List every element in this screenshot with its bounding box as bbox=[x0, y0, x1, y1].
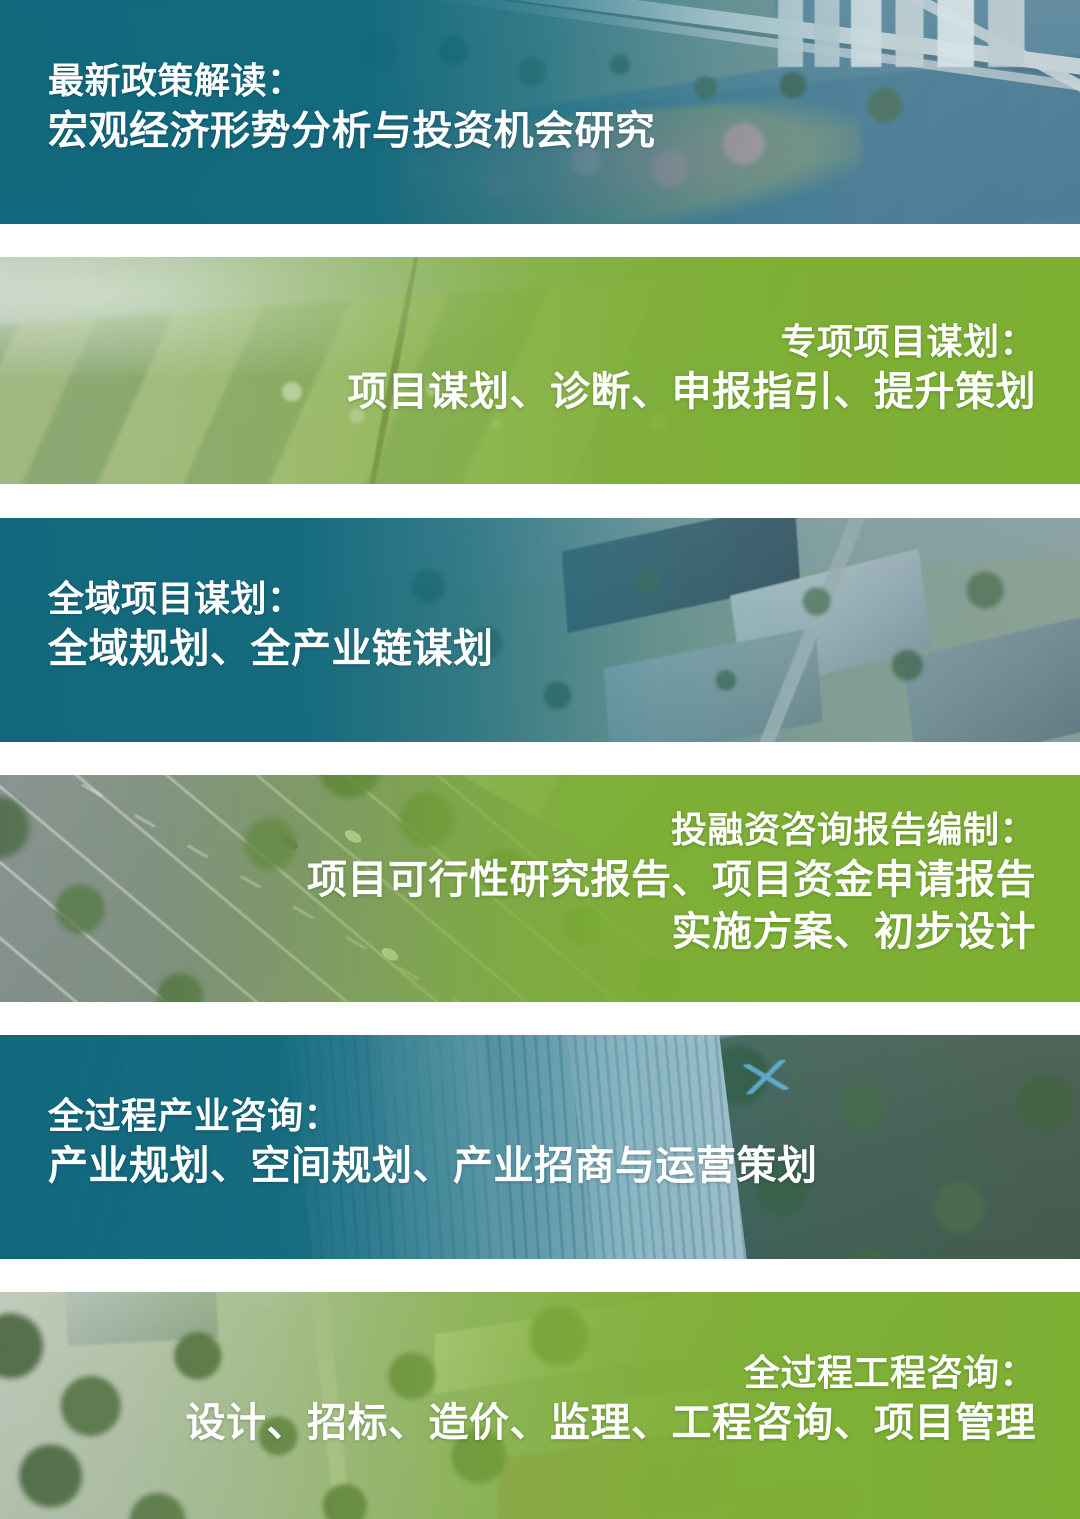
band-6-heading: 全过程工程咨询： bbox=[186, 1350, 1037, 1397]
band-policy-interpretation: 最新政策解读： 宏观经济形势分析与投资机会研究 bbox=[0, 0, 1080, 224]
band-1-line2: 宏观经济形势分析与投资机会研究 bbox=[48, 105, 656, 157]
band-1-heading: 最新政策解读： bbox=[48, 58, 656, 105]
band-2-copy: 专项项目谋划： 项目谋划、诊断、申报指引、提升策划 bbox=[348, 319, 1037, 418]
band-4-line2: 项目可行性研究报告、项目资金申请报告 bbox=[307, 854, 1036, 906]
band-special-project-planning: 专项项目谋划： 项目谋划、诊断、申报指引、提升策划 bbox=[0, 257, 1080, 484]
band-4-heading: 投融资咨询报告编制： bbox=[307, 807, 1036, 854]
band-3-line2: 全域规划、全产业链谋划 bbox=[48, 623, 494, 675]
band-5-copy: 全过程产业咨询： 产业规划、空间规划、产业招商与运营策划 bbox=[48, 1093, 818, 1192]
band-investment-financing-consulting-report: 投融资咨询报告编制： 项目可行性研究报告、项目资金申请报告 实施方案、初步设计 bbox=[0, 775, 1080, 1002]
band-1-copy: 最新政策解读： 宏观经济形势分析与投资机会研究 bbox=[48, 58, 656, 157]
band-2-line2: 项目谋划、诊断、申报指引、提升策划 bbox=[348, 366, 1037, 418]
band-6-copy: 全过程工程咨询： 设计、招标、造价、监理、工程咨询、项目管理 bbox=[186, 1350, 1037, 1449]
band-4-copy: 投融资咨询报告编制： 项目可行性研究报告、项目资金申请报告 实施方案、初步设计 bbox=[307, 807, 1036, 958]
band-2-heading: 专项项目谋划： bbox=[348, 319, 1037, 366]
band-5-line2: 产业规划、空间规划、产业招商与运营策划 bbox=[48, 1140, 818, 1192]
band-5-heading: 全过程产业咨询： bbox=[48, 1093, 818, 1140]
band-regional-project-planning: 全域项目谋划： 全域规划、全产业链谋划 bbox=[0, 518, 1080, 742]
band-whole-process-engineering-consulting: 全过程工程咨询： 设计、招标、造价、监理、工程咨询、项目管理 bbox=[0, 1292, 1080, 1519]
band-3-copy: 全域项目谋划： 全域规划、全产业链谋划 bbox=[48, 576, 494, 675]
band-4-line3: 实施方案、初步设计 bbox=[307, 906, 1036, 958]
band-3-heading: 全域项目谋划： bbox=[48, 576, 494, 623]
band-6-line2: 设计、招标、造价、监理、工程咨询、项目管理 bbox=[186, 1397, 1037, 1449]
poster-root: 最新政策解读： 宏观经济形势分析与投资机会研究 专项项目谋划： 项目谋划、诊断、… bbox=[0, 0, 1080, 1519]
band-whole-process-industry-consulting: 全过程产业咨询： 产业规划、空间规划、产业招商与运营策划 bbox=[0, 1035, 1080, 1259]
